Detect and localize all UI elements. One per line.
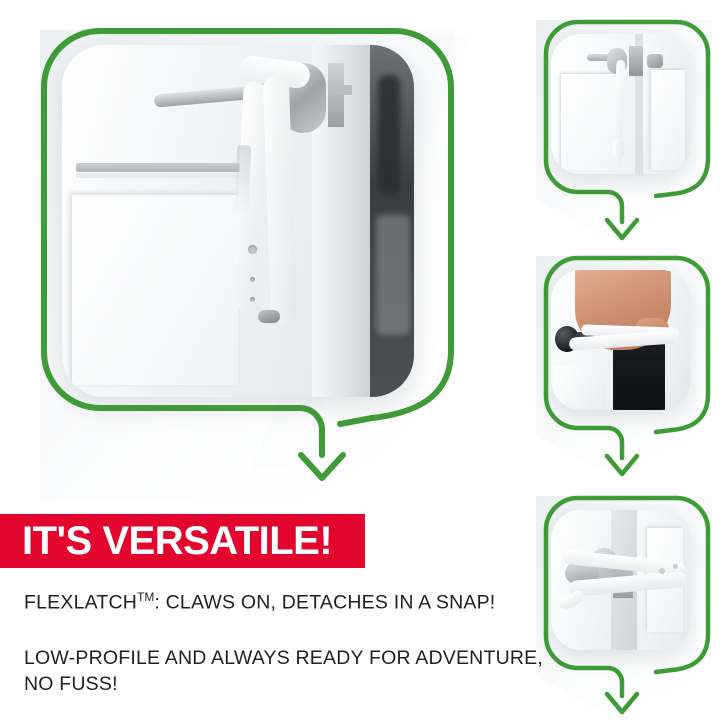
- feature-line-1-text: FLEXLATCHTM: CLAWS ON, DETACHES IN A SNA…: [24, 584, 495, 616]
- trademark-symbol: TM: [137, 590, 154, 604]
- feature-line-1-rest: : CLAWS ON, DETACHES IN A SNAP!: [154, 592, 495, 614]
- headline-banner: IT'S VERSATILE!: [0, 514, 365, 568]
- arrow-down-panel-4: [607, 694, 637, 712]
- headline-text: IT'S VERSATILE!: [0, 521, 332, 561]
- photo-panel-wrapped-knob-image: [551, 510, 691, 650]
- photo-panel-door-strap-image: [551, 34, 691, 174]
- arrow-down-panel-3: [607, 456, 637, 474]
- hero-photo-image: [62, 45, 414, 397]
- feature-line-2-text: LOW-PROFILE AND ALWAYS READY FOR ADVENTU…: [24, 645, 554, 697]
- hero-photo-panel: [62, 45, 414, 397]
- photo-panel-hand-detach-image: [551, 270, 691, 410]
- feature-line-1-brand: FLEXLATCH: [24, 592, 137, 614]
- feature-line-1: FLEXLATCHTM: CLAWS ON, DETACHES IN A SNA…: [24, 584, 495, 616]
- photo-panel-wrapped-knob: [551, 510, 691, 650]
- photo-panel-hand-detach: [551, 270, 691, 410]
- arrow-down-main: [301, 455, 343, 478]
- feature-line-2: LOW-PROFILE AND ALWAYS READY FOR ADVENTU…: [24, 645, 554, 697]
- infographic-canvas: IT'S VERSATILE! FLEXLATCHTM: CLAWS ON, D…: [0, 0, 720, 720]
- photo-panel-door-strap: [551, 34, 691, 174]
- arrow-down-panel-2: [607, 220, 637, 238]
